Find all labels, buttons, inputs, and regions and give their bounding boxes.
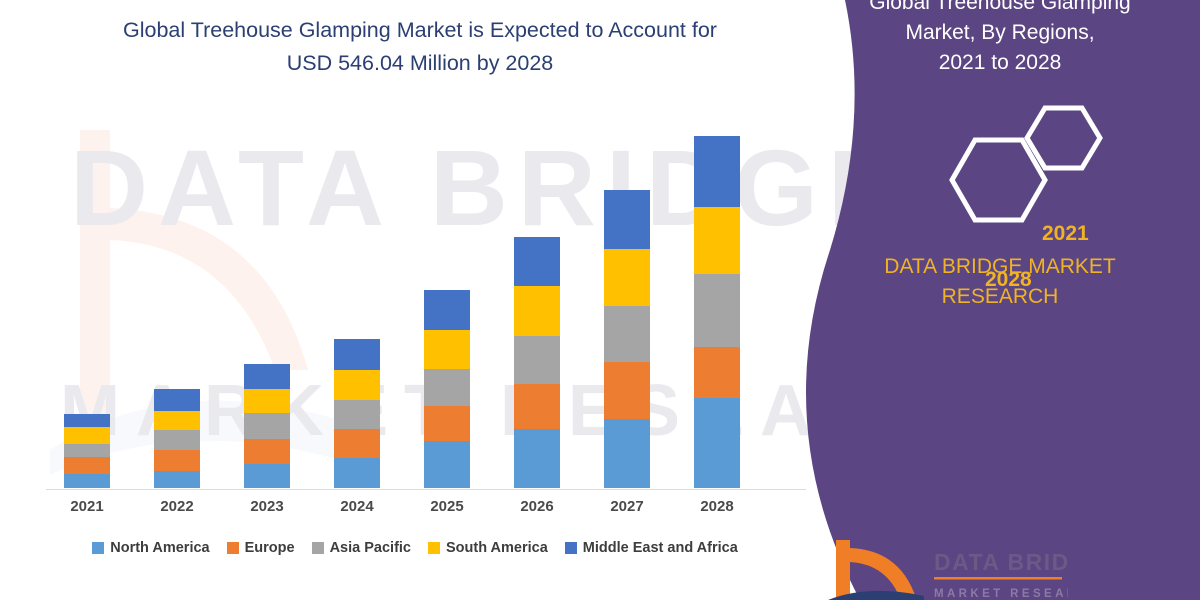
bar-segment[interactable]	[334, 400, 380, 429]
hexagon-2021-label: 2021	[1042, 222, 1089, 246]
legend-swatch-icon	[428, 542, 440, 554]
brand-panel: Global Treehouse Glamping Market, By Reg…	[800, 0, 1200, 600]
bar-group-2021[interactable]	[64, 414, 110, 488]
legend-item[interactable]: Europe	[227, 540, 295, 556]
bar-group-2024[interactable]	[334, 339, 380, 488]
bar-segment[interactable]	[64, 414, 110, 427]
bar-segment[interactable]	[334, 370, 380, 400]
bar-segment[interactable]	[694, 398, 740, 488]
hexagon-2021-shape	[1027, 108, 1100, 168]
brand-name: DATA BRIDGE MARKET RESEARCH	[820, 252, 1180, 312]
chart-legend: North AmericaEuropeAsia PacificSouth Ame…	[0, 540, 830, 556]
bar-segment[interactable]	[154, 411, 200, 430]
chart-title: Global Treehouse Glamping Market is Expe…	[0, 14, 840, 80]
bar-segment[interactable]	[604, 190, 650, 249]
x-axis-tick-2025: 2025	[412, 498, 482, 515]
bar-segment[interactable]	[424, 330, 470, 369]
data-bridge-logo: DATA BRIDGE MARKET RESEARCH	[828, 536, 1068, 600]
legend-label: Asia Pacific	[330, 540, 411, 556]
bar-segment[interactable]	[424, 441, 470, 488]
bar-segment[interactable]	[514, 286, 560, 336]
logo-text-primary: DATA BRIDGE	[934, 549, 1068, 575]
bar-segment[interactable]	[604, 249, 650, 306]
legend-swatch-icon	[312, 542, 324, 554]
x-axis-tick-2024: 2024	[322, 498, 392, 515]
bar-segment[interactable]	[64, 444, 110, 457]
bar-segment[interactable]	[514, 429, 560, 488]
legend-label: South America	[446, 540, 548, 556]
bar-segment[interactable]	[604, 306, 650, 362]
x-axis-line	[46, 489, 806, 490]
bar-segment[interactable]	[64, 427, 110, 444]
chart-panel: DATA BRIDGE MARKET RESEARCH Global Treeh…	[0, 0, 860, 600]
logo-text-secondary: MARKET RESEARCH	[934, 588, 1068, 600]
bar-segment[interactable]	[244, 464, 290, 488]
bar-segment[interactable]	[514, 237, 560, 286]
bar-segment[interactable]	[604, 362, 650, 419]
bar-segment[interactable]	[154, 471, 200, 488]
panel-title-line-3: 2021 to 2028	[818, 48, 1182, 78]
legend-label: Middle East and Africa	[583, 540, 738, 556]
bar-segment[interactable]	[64, 474, 110, 488]
bar-segment[interactable]	[694, 207, 740, 274]
bar-segment[interactable]	[154, 430, 200, 450]
bar-segment[interactable]	[154, 389, 200, 411]
bar-segment[interactable]	[514, 336, 560, 384]
bar-group-2026[interactable]	[514, 237, 560, 488]
stacked-bar-plot	[0, 120, 830, 488]
bar-segment[interactable]	[694, 136, 740, 207]
panel-title-line-1: Global Treehouse Glamping	[818, 0, 1182, 18]
legend-label: Europe	[245, 540, 295, 556]
chart-title-line-1: Global Treehouse Glamping Market is Expe…	[0, 14, 840, 47]
bar-segment[interactable]	[514, 384, 560, 429]
x-axis-tick-2026: 2026	[502, 498, 572, 515]
legend-item[interactable]: Asia Pacific	[312, 540, 411, 556]
x-axis-tick-2027: 2027	[592, 498, 662, 515]
bar-group-2025[interactable]	[424, 290, 470, 488]
chart-title-line-2: USD 546.04 Million by 2028	[0, 47, 840, 80]
bar-segment[interactable]	[424, 369, 470, 406]
bar-group-2022[interactable]	[154, 389, 200, 488]
panel-title: Global Treehouse Glamping Market, By Reg…	[818, 0, 1182, 78]
bar-segment[interactable]	[334, 429, 380, 458]
brand-name-line-2: RESEARCH	[820, 282, 1180, 312]
hexagon-badges: 2021 2028	[900, 100, 1140, 230]
legend-item[interactable]: South America	[428, 540, 548, 556]
bar-segment[interactable]	[64, 457, 110, 474]
bar-group-2023[interactable]	[244, 364, 290, 488]
bar-segment[interactable]	[604, 419, 650, 488]
bar-segment[interactable]	[244, 439, 290, 464]
bar-segment[interactable]	[694, 274, 740, 347]
bar-segment[interactable]	[424, 290, 470, 330]
hexagon-outlines	[900, 100, 1140, 230]
legend-swatch-icon	[227, 542, 239, 554]
bar-group-2028[interactable]	[694, 136, 740, 488]
bar-segment[interactable]	[334, 458, 380, 488]
bar-segment[interactable]	[154, 450, 200, 471]
bar-segment[interactable]	[334, 339, 380, 370]
hexagon-2028-shape	[952, 140, 1045, 220]
x-axis-tick-2028: 2028	[682, 498, 752, 515]
legend-label: North America	[110, 540, 209, 556]
legend-swatch-icon	[92, 542, 104, 554]
legend-item[interactable]: North America	[92, 540, 209, 556]
x-axis-tick-2022: 2022	[142, 498, 212, 515]
legend-swatch-icon	[565, 542, 577, 554]
brand-name-line-1: DATA BRIDGE MARKET	[820, 252, 1180, 282]
bar-segment[interactable]	[244, 413, 290, 439]
bar-segment[interactable]	[244, 364, 290, 389]
legend-item[interactable]: Middle East and Africa	[565, 540, 738, 556]
x-axis-labels: 20212022202320242025202620272028	[0, 498, 830, 524]
x-axis-tick-2023: 2023	[232, 498, 302, 515]
x-axis-tick-2021: 2021	[52, 498, 122, 515]
bar-group-2027[interactable]	[604, 190, 650, 488]
bar-segment[interactable]	[694, 347, 740, 398]
bar-segment[interactable]	[424, 406, 470, 441]
panel-title-line-2: Market, By Regions,	[818, 18, 1182, 48]
bar-segment[interactable]	[244, 389, 290, 413]
